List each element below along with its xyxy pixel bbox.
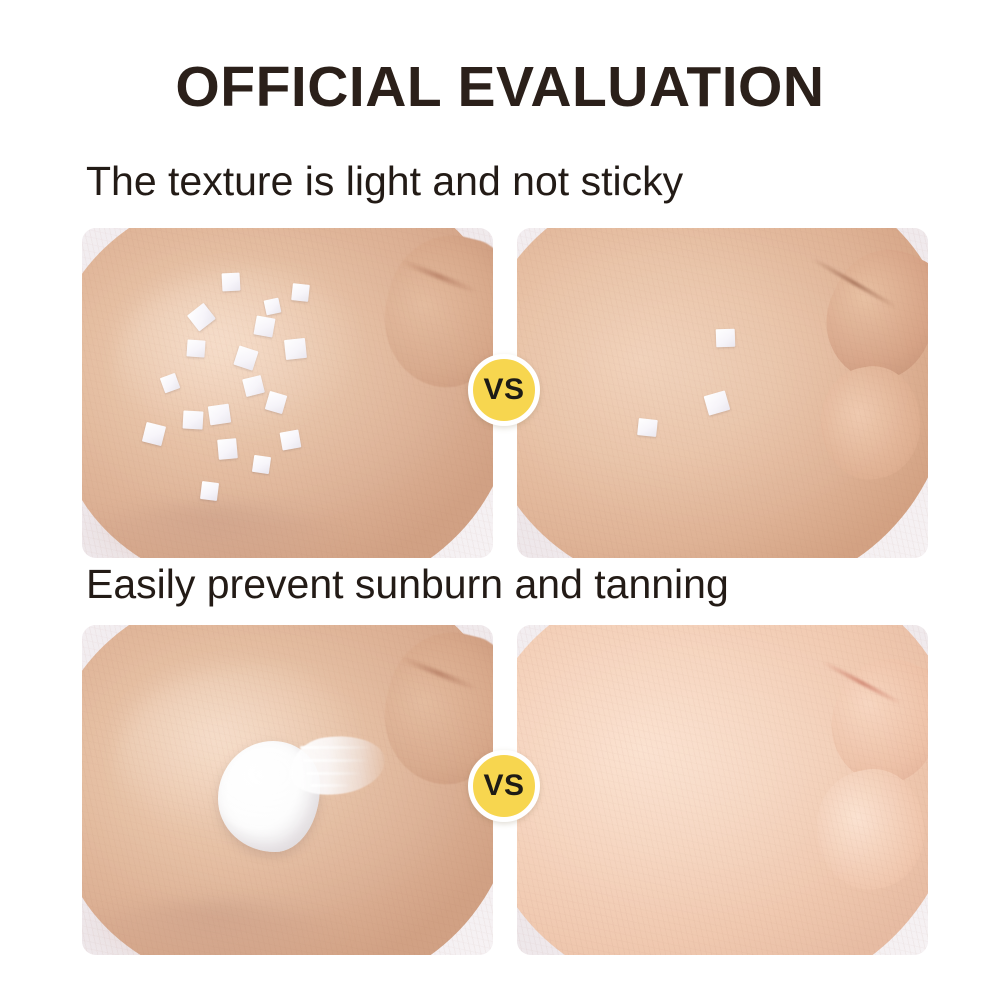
- powder-flake: [182, 411, 203, 430]
- powder-flake: [251, 455, 270, 474]
- page-title: OFFICIAL EVALUATION: [0, 58, 1000, 118]
- powder-flake: [253, 316, 275, 338]
- hand-image: [517, 625, 928, 955]
- powder-flake: [186, 340, 205, 358]
- cream-streak: [303, 759, 369, 762]
- powder-flake: [637, 418, 658, 436]
- section-heading-sunburn: Easily prevent sunburn and tanning: [86, 563, 729, 606]
- evaluation-infographic: OFFICIAL EVALUATION The texture is light…: [0, 0, 1000, 1000]
- powder-flake: [221, 272, 240, 291]
- powder-flake: [280, 429, 302, 450]
- photo-few-flakes: [517, 228, 928, 558]
- powder-flake: [284, 338, 307, 360]
- powder-flake: [291, 283, 310, 302]
- powder-flake: [716, 328, 736, 347]
- powder-flake: [200, 481, 219, 501]
- cream-swatch: [218, 734, 382, 859]
- hand-image: [82, 228, 493, 558]
- cream-streak: [306, 772, 362, 775]
- photo-many-flakes: [82, 228, 493, 558]
- section-heading-texture: The texture is light and not sticky: [86, 160, 683, 203]
- cream-streak: [310, 784, 353, 787]
- photo-cream-swatch: [82, 625, 493, 955]
- photo-absorbed-skin: [517, 625, 928, 955]
- cream-smear-tail: [286, 730, 388, 800]
- powder-flake: [263, 298, 281, 316]
- powder-flake: [217, 438, 238, 459]
- powder-flake: [208, 403, 231, 425]
- vs-badge-sunburn: VS: [468, 750, 540, 822]
- cream-streak: [300, 746, 372, 749]
- vs-badge-texture: VS: [468, 354, 540, 426]
